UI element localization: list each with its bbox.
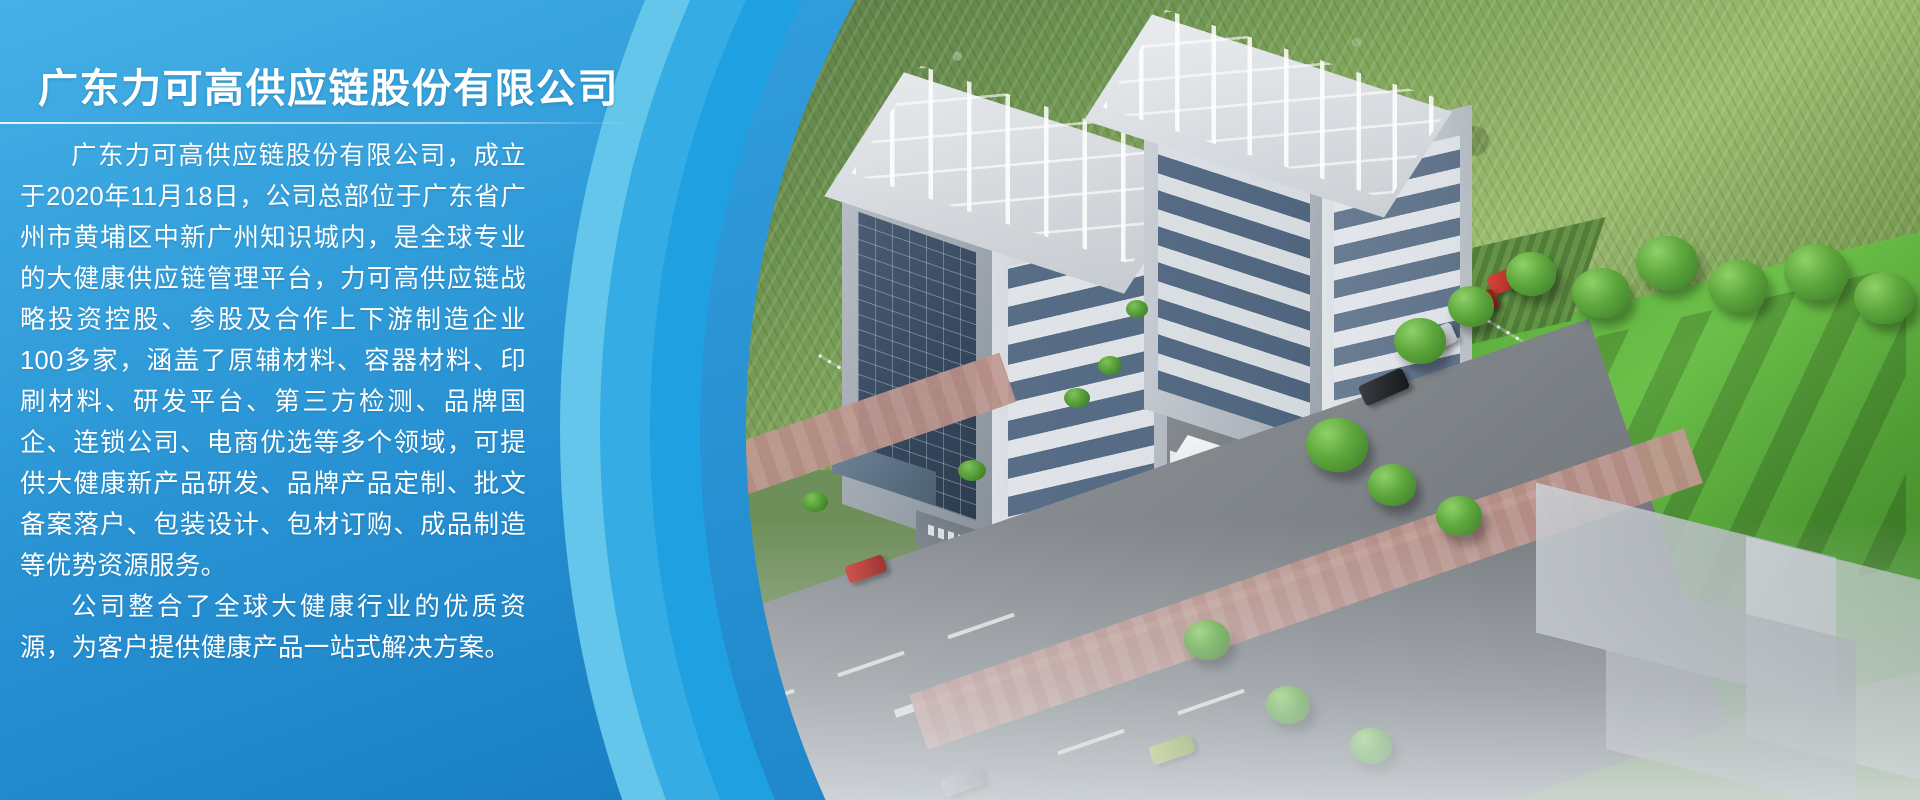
text-panel: 广东力可高供应链股份有限公司 广东力可高供应链股份有限公司，成立于2020年11… <box>0 0 640 800</box>
tree <box>1636 236 1698 290</box>
page-title: 广东力可高供应链股份有限公司 <box>38 56 619 114</box>
tree <box>1306 418 1368 472</box>
tree <box>1708 260 1768 312</box>
tree <box>1572 268 1630 318</box>
bush <box>1098 356 1122 375</box>
bush <box>802 492 828 512</box>
description-paragraph-2: 公司整合了全球大健康行业的优质资源，为客户提供健康产品一站式解决方案。 <box>20 587 526 669</box>
title-divider <box>0 122 640 124</box>
bush <box>1064 388 1090 408</box>
company-description: 广东力可高供应链股份有限公司，成立于2020年11月18日，公司总部位于广东省广… <box>20 136 526 669</box>
tree <box>1394 318 1446 364</box>
tree <box>1368 464 1416 506</box>
bush <box>958 460 986 481</box>
atmospheric-haze-overlay <box>746 520 1920 800</box>
tree <box>1854 272 1914 324</box>
tree <box>1448 286 1494 327</box>
bush <box>1126 300 1148 318</box>
company-banner: 广东力可高供应链股份有限公司 广东力可高供应链股份有限公司，成立于2020年11… <box>0 0 1920 800</box>
tree <box>1506 252 1556 296</box>
description-paragraph-1: 广东力可高供应链股份有限公司，成立于2020年11月18日，公司总部位于广东省广… <box>20 136 526 587</box>
photo-circular-mask <box>746 0 1920 800</box>
tree <box>1784 244 1848 300</box>
factory-building-windows <box>1158 143 1310 438</box>
campus-aerial-photo <box>746 0 1920 800</box>
